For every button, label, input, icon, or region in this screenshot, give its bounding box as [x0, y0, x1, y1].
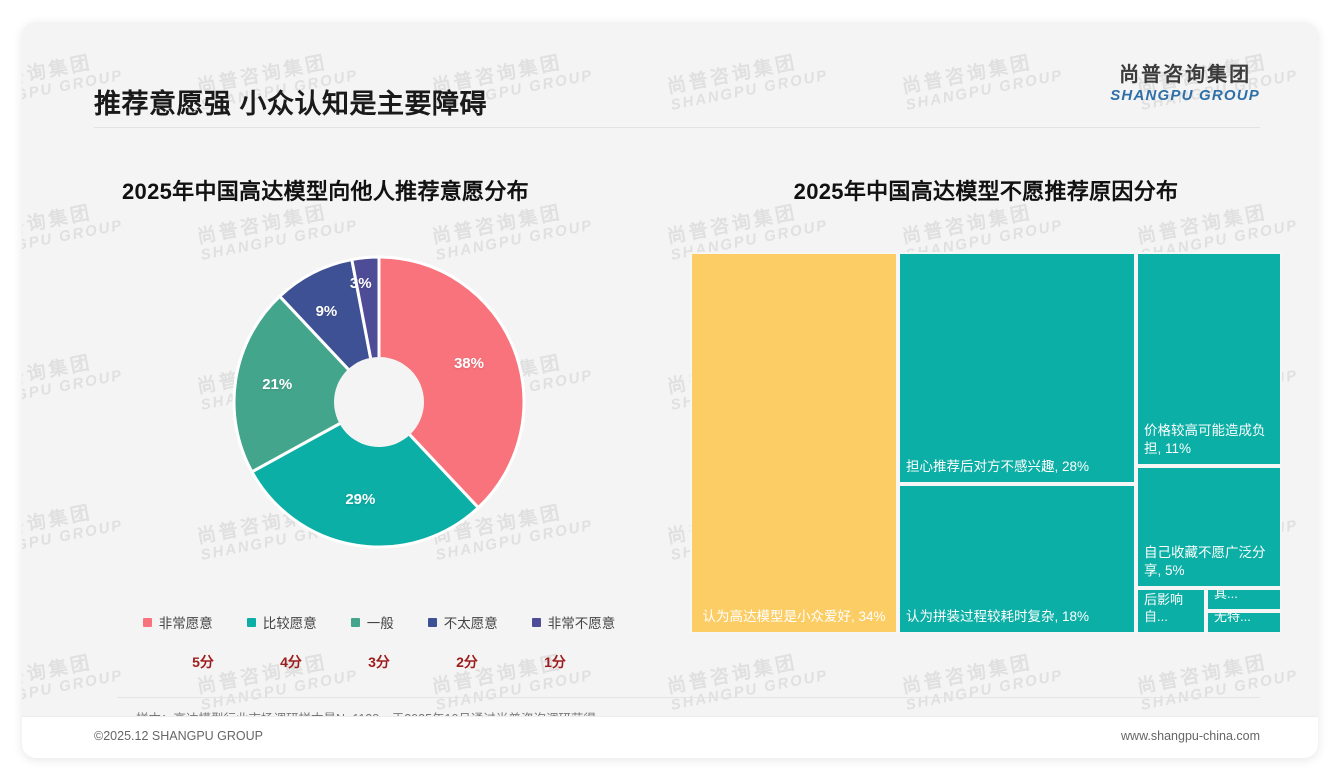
legend-item[interactable]: 非常不愿意 [532, 612, 616, 632]
chart-legend: 非常愿意比较愿意一般不太愿意非常不愿意 [94, 612, 664, 632]
treemap-cell-label: 认为拼装过程较耗时复杂, 18% [900, 608, 1095, 632]
header-divider [94, 127, 1260, 128]
copyright-text: ©2025.12 SHANGPU GROUP [94, 729, 263, 743]
legend-label: 不太愿意 [444, 612, 498, 632]
legend-label: 一般 [367, 612, 394, 632]
legend-item[interactable]: 非常愿意 [143, 612, 213, 632]
left-chart-panel: 2025年中国高达模型向他人推荐意愿分布 38%29%21%9%3% 非常愿意比… [94, 174, 664, 674]
legend-item[interactable]: 不太愿意 [428, 612, 498, 632]
slide-footer: ©2025.12 SHANGPU GROUP www.shangpu-china… [22, 716, 1318, 758]
right-chart-title: 2025年中国高达模型不愿推荐原因分布 [694, 174, 1278, 206]
treemap-cell-label: 自己收藏不愿广泛分享, 5% [1138, 544, 1280, 586]
treemap-cell-label: 其... [1208, 588, 1244, 609]
treemap-cell[interactable]: 担心推荐后对方不感兴趣, 28% [898, 252, 1136, 484]
treemap-cell-label: 担心推荐后对方不感兴趣, 28% [900, 458, 1095, 482]
treemap-cell-label: 价格较高可能造成负担, 11% [1138, 422, 1280, 464]
slide-canvas: 尚普咨询集团SHANGPU GROUP尚普咨询集团SHANGPU GROUP尚普… [22, 22, 1318, 758]
legend-swatch-icon [428, 618, 437, 627]
logo-english-text: SHANGPU GROUP [1110, 87, 1260, 105]
score-label: 4分 [274, 652, 308, 672]
footnote-divider [117, 697, 1260, 698]
treemap-cell-label: 担心推荐后影响自... [1138, 588, 1204, 632]
legend-swatch-icon [247, 618, 256, 627]
legend-label: 非常不愿意 [548, 612, 616, 632]
page-title: 推荐意愿强 小众认知是主要障碍 [94, 82, 487, 121]
treemap-cell[interactable]: 认为拼装过程较耗时复杂, 18% [898, 484, 1136, 634]
legend-swatch-icon [143, 618, 152, 627]
score-label: 1分 [538, 652, 572, 672]
treemap-cell[interactable]: 认为高达模型是小众爱好, 34% [690, 252, 898, 634]
donut-hole [334, 357, 424, 447]
score-row: 5分4分3分2分1分 [94, 652, 664, 672]
legend-item[interactable]: 一般 [351, 612, 394, 632]
treemap-cell-label: 认为高达模型是小众爱好, 34% [692, 608, 896, 632]
legend-item[interactable]: 比较愿意 [247, 612, 317, 632]
legend-swatch-icon [351, 618, 360, 627]
score-label: 2分 [450, 652, 484, 672]
legend-swatch-icon [532, 618, 541, 627]
treemap-cell[interactable]: 价格较高可能造成负担, 11% [1136, 252, 1282, 466]
treemap-chart: 认为高达模型是小众爱好, 34%担心推荐后对方不感兴趣, 28%认为拼装过程较耗… [690, 252, 1282, 634]
treemap-cell[interactable]: 其... [1206, 588, 1282, 611]
legend-label: 非常愿意 [159, 612, 213, 632]
treemap-cell[interactable]: 无特... [1206, 611, 1282, 634]
treemap-cell-label: 无特... [1208, 611, 1257, 632]
treemap-cell[interactable]: 自己收藏不愿广泛分享, 5% [1136, 466, 1282, 588]
legend-label: 比较愿意 [263, 612, 317, 632]
score-label: 3分 [362, 652, 396, 672]
donut-svg [199, 228, 559, 576]
slide-header: 推荐意愿强 小众认知是主要障碍 尚普咨询集团 SHANGPU GROUP [22, 22, 1318, 122]
website-link[interactable]: www.shangpu-china.com [1121, 729, 1260, 743]
logo-chinese-text: 尚普咨询集团 [1110, 64, 1260, 87]
donut-chart: 38%29%21%9%3% [94, 222, 664, 582]
right-chart-panel: 2025年中国高达模型不愿推荐原因分布 认为高达模型是小众爱好, 34%担心推荐… [694, 174, 1278, 674]
left-chart-title: 2025年中国高达模型向他人推荐意愿分布 [94, 174, 664, 206]
score-label: 5分 [186, 652, 220, 672]
treemap-cell[interactable]: 担心推荐后影响自... [1136, 588, 1206, 634]
brand-logo: 尚普咨询集团 SHANGPU GROUP [1110, 64, 1260, 105]
